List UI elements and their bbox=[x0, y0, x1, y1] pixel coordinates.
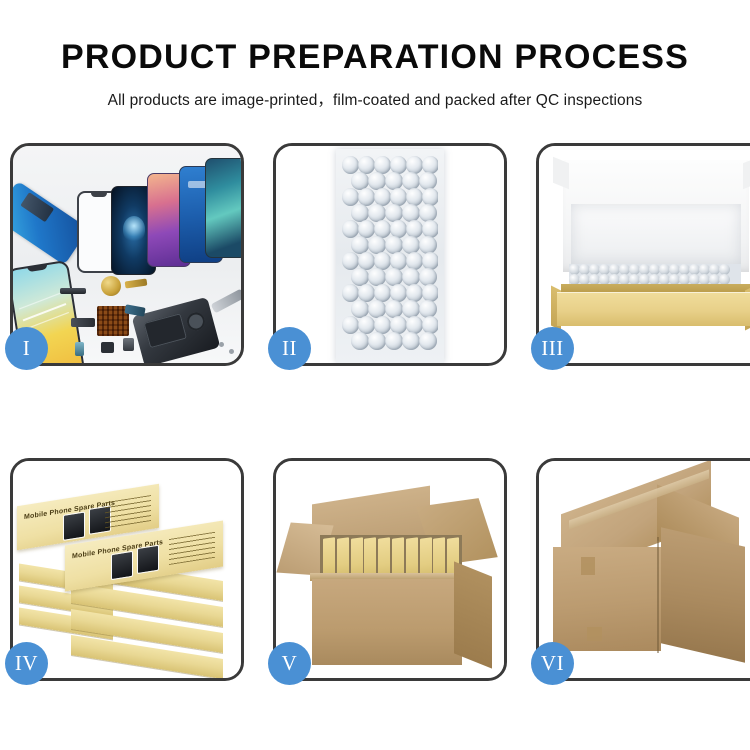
step-panel-5: V bbox=[273, 458, 507, 681]
inner-box-scene bbox=[539, 146, 750, 363]
part-flex-cable-gold bbox=[125, 279, 148, 289]
step-image-5 bbox=[276, 461, 504, 678]
sealed-carton-right-face bbox=[661, 527, 745, 662]
part-vibrator-motor bbox=[123, 338, 134, 351]
step-badge-3: III bbox=[531, 327, 574, 370]
phone-teal-swirl bbox=[205, 158, 241, 258]
carton-hand-hole-top bbox=[581, 557, 595, 575]
step-badge-6: VI bbox=[531, 642, 574, 685]
carton-hand-hole-bottom bbox=[587, 627, 602, 641]
part-screw-2 bbox=[229, 349, 234, 354]
page-title: PRODUCT PREPARATION PROCESS bbox=[0, 0, 750, 77]
phone-chassis bbox=[132, 297, 221, 363]
bubble-wrap-scene bbox=[276, 146, 504, 363]
sealed-carton-scene bbox=[539, 461, 750, 678]
step-panel-1: I bbox=[10, 143, 244, 366]
step-badge-1: I bbox=[5, 327, 48, 370]
box-window-b1 bbox=[111, 551, 133, 580]
part-repair-tool bbox=[211, 289, 241, 314]
part-earpiece-bar bbox=[60, 288, 86, 294]
step-badge-5: V bbox=[268, 642, 311, 685]
part-button-component bbox=[75, 342, 84, 356]
page-subtitle: All products are image-printed，film-coat… bbox=[0, 77, 750, 110]
open-carton-scene bbox=[276, 461, 504, 678]
part-speaker bbox=[101, 276, 121, 296]
box-window-a1 bbox=[63, 511, 85, 540]
step-panel-4: Mobile Phone Spare Parts Mobile Phone Sp… bbox=[10, 458, 244, 681]
part-flex-cable-dark bbox=[71, 318, 95, 327]
foam-insert bbox=[571, 204, 741, 264]
box-stack-scene: Mobile Phone Spare Parts Mobile Phone Sp… bbox=[13, 461, 241, 678]
sealed-carton-front-face bbox=[553, 547, 661, 651]
step-image-4: Mobile Phone Spare Parts Mobile Phone Sp… bbox=[13, 461, 241, 678]
products-scene bbox=[13, 146, 241, 363]
step-image-1 bbox=[13, 146, 241, 363]
bubble-wrap-bubbles bbox=[342, 156, 438, 356]
box-front-panel bbox=[557, 292, 750, 326]
step-image-3 bbox=[539, 146, 750, 363]
header: PRODUCT PREPARATION PROCESS All products… bbox=[0, 0, 750, 110]
step-panel-3: III bbox=[536, 143, 750, 366]
step-image-2 bbox=[276, 146, 504, 363]
part-camera-module bbox=[101, 342, 114, 353]
box-spec-lines-b bbox=[169, 532, 215, 565]
step-image-6 bbox=[539, 461, 750, 678]
step-panel-2: II bbox=[273, 143, 507, 366]
step-badge-2: II bbox=[268, 327, 311, 370]
carton-side-face bbox=[454, 561, 492, 668]
step-panel-6: VI bbox=[536, 458, 750, 681]
box-window-b2 bbox=[137, 545, 159, 574]
part-screw-1 bbox=[219, 342, 224, 347]
step-badge-4: IV bbox=[5, 642, 48, 685]
carton-edge-seam bbox=[657, 537, 659, 653]
carton-front-face bbox=[312, 579, 462, 665]
process-steps-grid: I I bbox=[10, 143, 740, 681]
